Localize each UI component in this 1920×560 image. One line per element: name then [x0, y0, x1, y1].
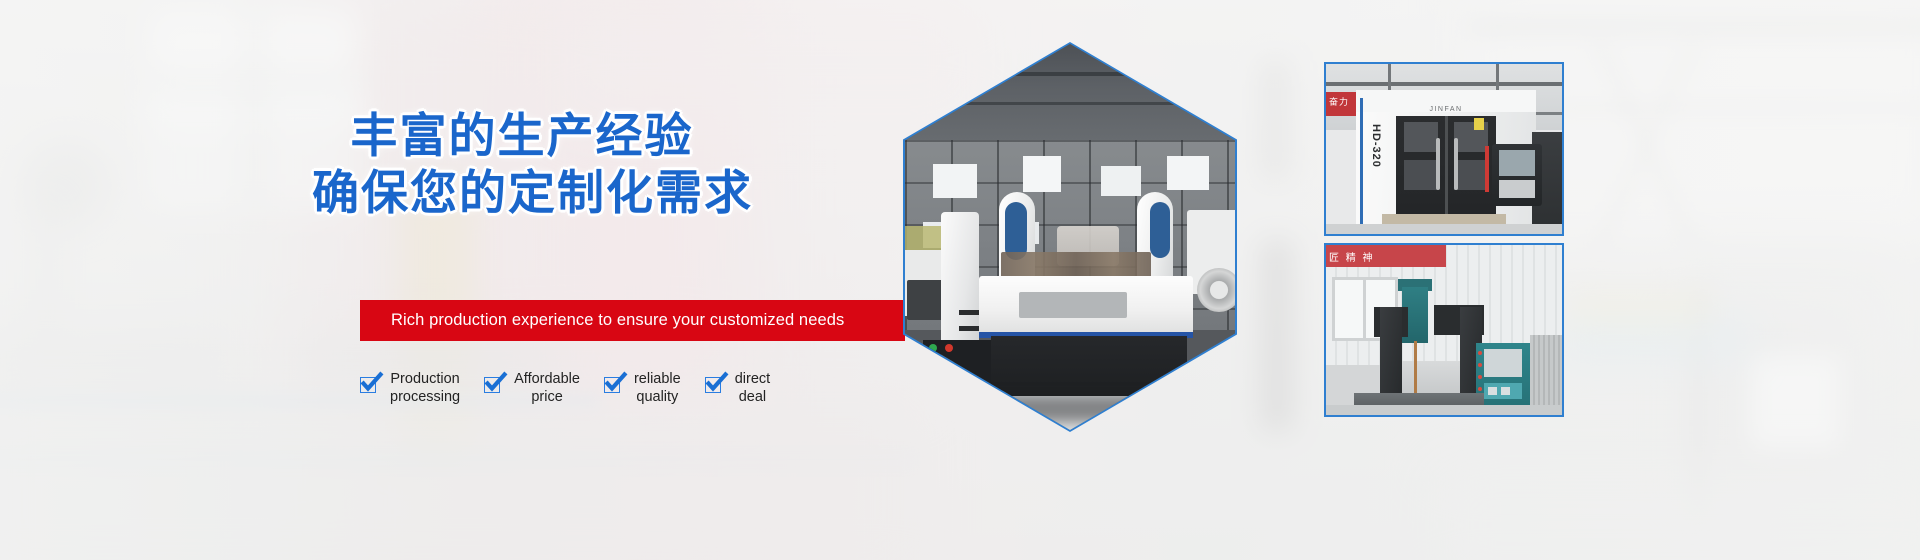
feature-label: Production processing [390, 370, 460, 407]
headline-line-1: 丰富的生产经验 [312, 108, 732, 165]
thumbnail-machining-center[interactable]: 奋力 JINFAN HD-320 [1324, 62, 1564, 236]
feature-label-line-2: quality [634, 388, 681, 406]
checkbox-checked-icon[interactable] [604, 375, 623, 394]
hexagon-clip [905, 44, 1235, 430]
feature-label-line-2: price [514, 388, 580, 406]
promo-banner: 丰富的生产经验 确保您的定制化需求 Rich production experi… [0, 0, 1920, 560]
feature-item-direct-deal[interactable]: direct deal [705, 370, 770, 407]
subtitle-bar: Rich production experience to ensure you… [360, 300, 905, 341]
feature-item-affordable-price[interactable]: Affordable price [484, 370, 580, 407]
subtitle-text: Rich production experience to ensure you… [391, 311, 844, 330]
feature-label-line-1: Production [390, 370, 460, 388]
feature-item-reliable-quality[interactable]: reliable quality [604, 370, 681, 407]
headline: 丰富的生产经验 确保您的定制化需求 [312, 108, 732, 223]
feature-label: direct deal [735, 370, 770, 407]
feature-label-line-1: direct [735, 370, 770, 388]
feature-label: reliable quality [634, 370, 681, 407]
feature-label-line-1: Affordable [514, 370, 580, 388]
thumbnail-wall-banner: 匠 精 神 [1329, 249, 1445, 264]
thumbnail-model-label: HD-320 [1368, 124, 1382, 196]
feature-label-line-1: reliable [634, 370, 681, 388]
hero-hexagon-photo[interactable] [903, 42, 1237, 432]
headline-line-2: 确保您的定制化需求 [312, 165, 732, 222]
feature-label-line-2: processing [390, 388, 460, 406]
hero-photo-content [905, 44, 1235, 430]
feature-label: Affordable price [514, 370, 580, 407]
feature-list: Production processing Affordable price r… [360, 370, 794, 407]
thumbnail-edm-machine[interactable]: 匠 精 神 [1324, 243, 1564, 417]
checkbox-checked-icon[interactable] [705, 375, 724, 394]
feature-label-line-2: deal [735, 388, 770, 406]
checkbox-checked-icon[interactable] [360, 375, 379, 394]
feature-item-production-processing[interactable]: Production processing [360, 370, 460, 407]
thumbnail-brand-label: JINFAN [1422, 106, 1470, 113]
checkbox-checked-icon[interactable] [484, 375, 503, 394]
